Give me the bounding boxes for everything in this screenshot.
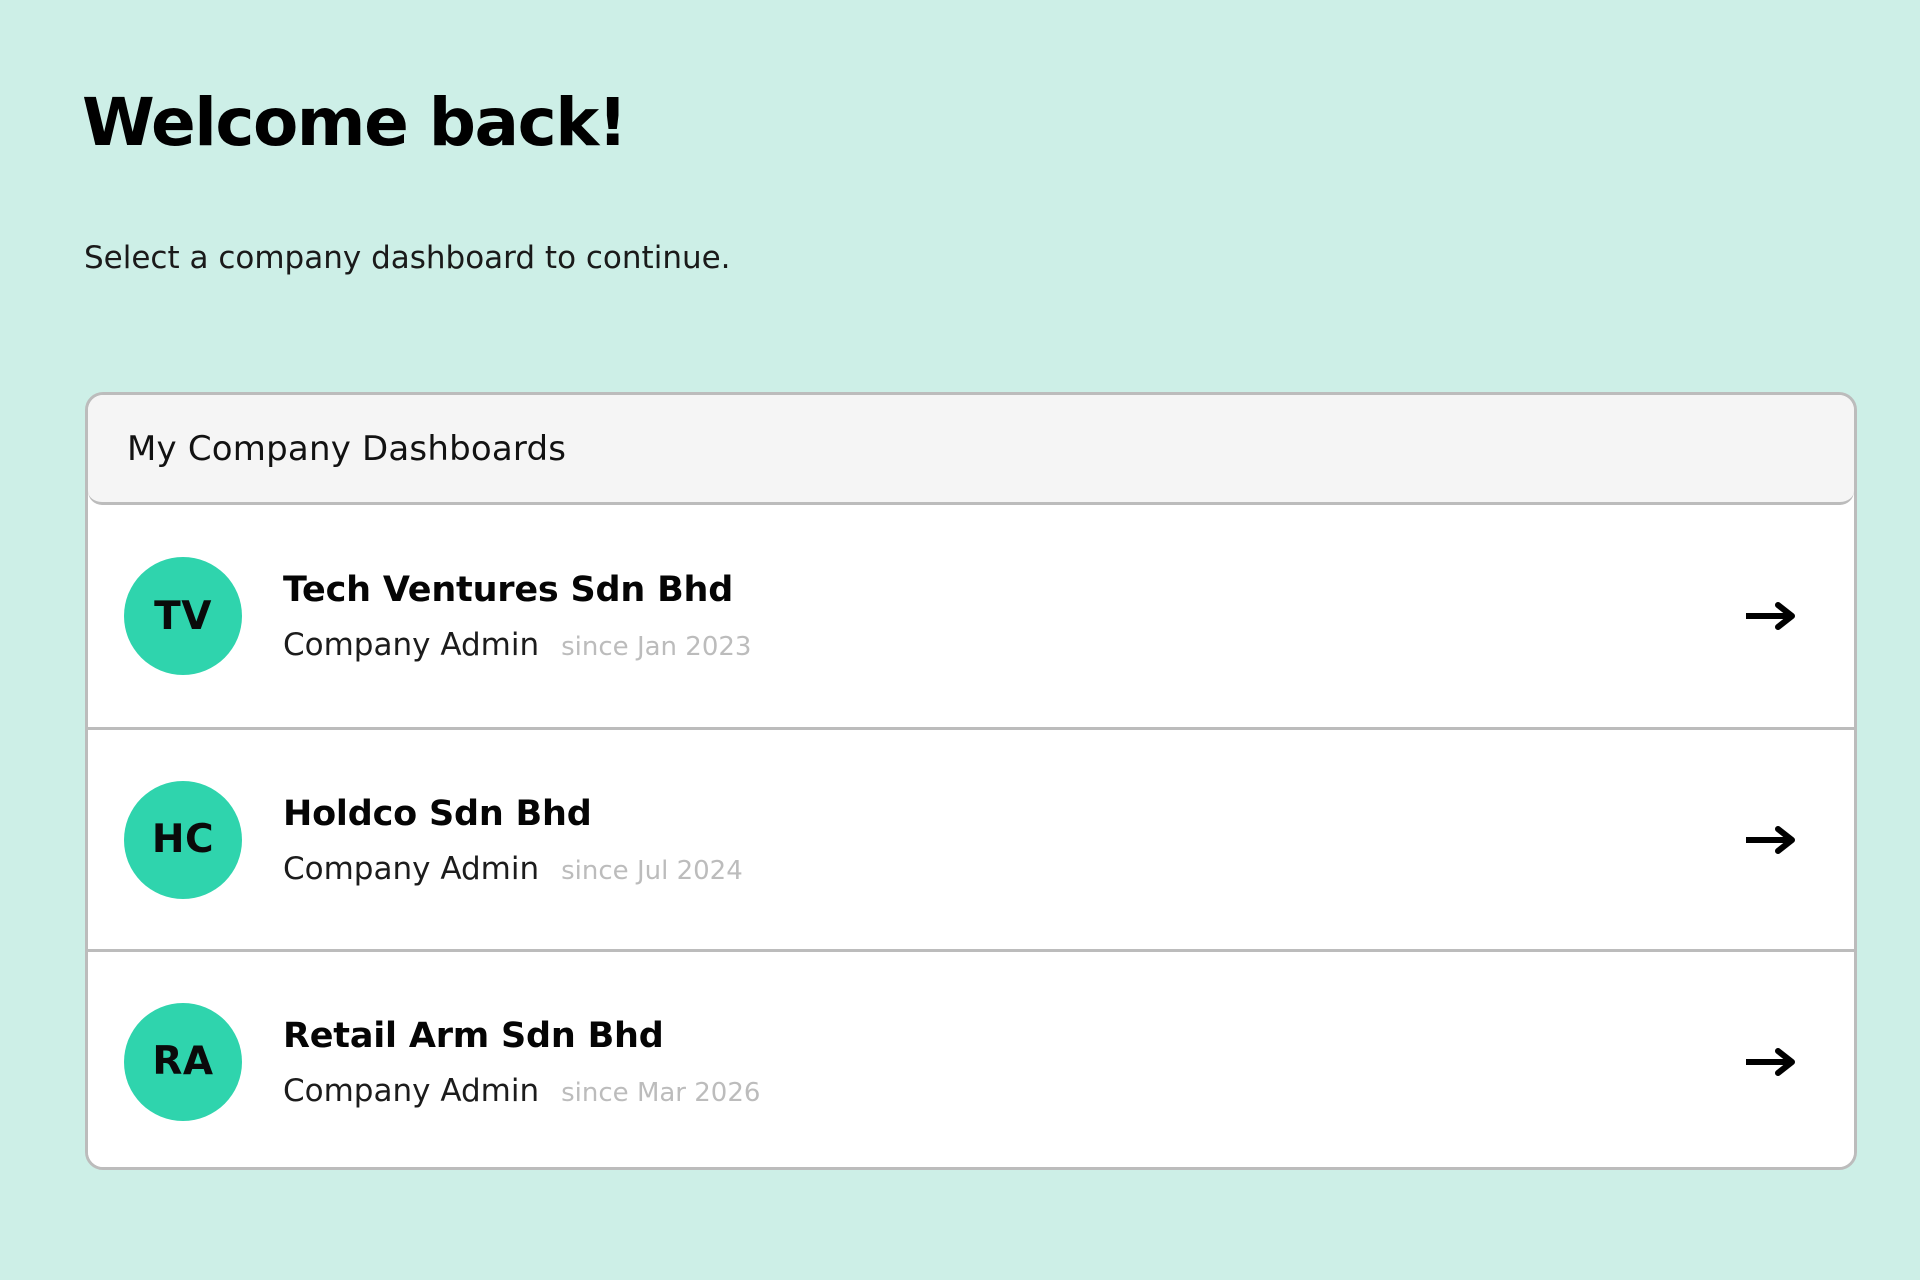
list-item[interactable]: HC Holdco Sdn Bhd Company Admin since Ju… xyxy=(88,727,1854,949)
list-item[interactable]: RA Retail Arm Sdn Bhd Company Admin sinc… xyxy=(88,949,1854,1170)
since-label: since Mar 2026 xyxy=(561,1078,760,1108)
avatar: RA xyxy=(124,1003,242,1121)
avatar: TV xyxy=(124,557,242,675)
list-item[interactable]: TV Tech Ventures Sdn Bhd Company Admin s… xyxy=(88,505,1854,727)
arrow-right-icon[interactable] xyxy=(1726,601,1818,631)
arrow-right-icon[interactable] xyxy=(1726,1047,1818,1077)
page-title: Welcome back! xyxy=(82,88,626,157)
role-label: Company Admin xyxy=(283,1073,539,1109)
company-list: TV Tech Ventures Sdn Bhd Company Admin s… xyxy=(88,505,1854,1170)
company-meta: Company Admin since Jan 2023 xyxy=(283,627,1726,663)
company-name: Tech Ventures Sdn Bhd xyxy=(283,569,1726,611)
company-details: Holdco Sdn Bhd Company Admin since Jul 2… xyxy=(242,793,1726,887)
card-header: My Company Dashboards xyxy=(88,395,1854,505)
company-name: Retail Arm Sdn Bhd xyxy=(283,1015,1726,1057)
page-subtitle: Select a company dashboard to continue. xyxy=(84,240,731,277)
card-header-title: My Company Dashboards xyxy=(127,429,566,469)
company-meta: Company Admin since Mar 2026 xyxy=(283,1073,1726,1109)
role-label: Company Admin xyxy=(283,851,539,887)
since-label: since Jan 2023 xyxy=(561,632,751,662)
welcome-page: Welcome back! Select a company dashboard… xyxy=(0,0,1920,1280)
avatar: HC xyxy=(124,781,242,899)
company-name: Holdco Sdn Bhd xyxy=(283,793,1726,835)
company-dashboards-card: My Company Dashboards TV Tech Ventures S… xyxy=(85,392,1857,1170)
since-label: since Jul 2024 xyxy=(561,856,743,886)
arrow-right-icon[interactable] xyxy=(1726,825,1818,855)
role-label: Company Admin xyxy=(283,627,539,663)
company-details: Retail Arm Sdn Bhd Company Admin since M… xyxy=(242,1015,1726,1109)
company-meta: Company Admin since Jul 2024 xyxy=(283,851,1726,887)
company-details: Tech Ventures Sdn Bhd Company Admin sinc… xyxy=(242,569,1726,663)
